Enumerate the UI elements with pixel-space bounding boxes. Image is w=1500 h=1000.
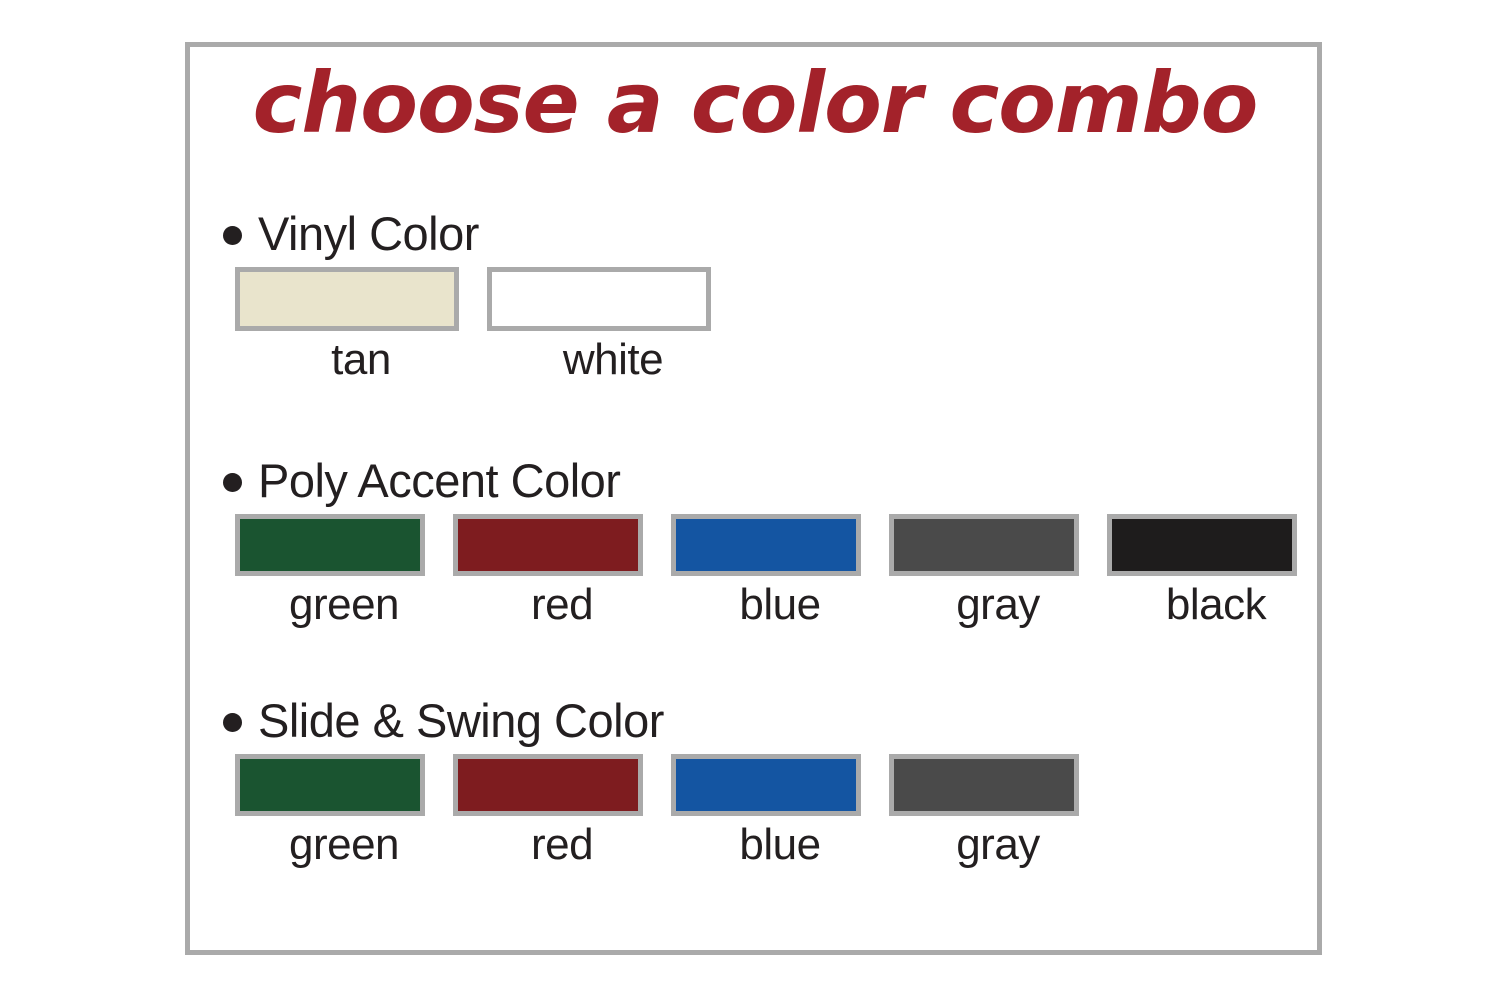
swatch-option-red[interactable]: red — [453, 514, 671, 628]
page-root: choose a color combo Vinyl Color tan whi… — [0, 0, 1500, 1000]
swatch-row-poly-accent: green red blue gray black — [235, 514, 1290, 628]
color-swatch-chip[interactable] — [671, 514, 861, 576]
page-title: choose a color combo — [240, 59, 1270, 147]
swatch-option-tan[interactable]: tan — [235, 267, 487, 383]
swatch-option-black[interactable]: black — [1107, 514, 1325, 628]
bullet-dot-icon — [223, 473, 242, 492]
color-swatch-chip[interactable] — [671, 754, 861, 816]
section-title-label: Poly Accent Color — [258, 457, 620, 504]
swatch-label: blue — [671, 822, 889, 868]
section-poly-accent-color: Poly Accent Color green red blue gray — [220, 452, 1290, 628]
color-swatch-chip[interactable] — [1107, 514, 1297, 576]
bullet-dot-icon — [223, 713, 242, 732]
color-swatch-chip[interactable] — [453, 754, 643, 816]
swatch-row-vinyl: tan white — [235, 267, 1290, 383]
section-heading-slide-swing: Slide & Swing Color — [223, 692, 1290, 748]
section-slide-swing-color: Slide & Swing Color green red blue gray — [220, 692, 1290, 868]
swatch-label: green — [235, 582, 453, 628]
section-vinyl-color: Vinyl Color tan white — [220, 205, 1290, 383]
swatch-option-red[interactable]: red — [453, 754, 671, 868]
swatch-option-white[interactable]: white — [487, 267, 739, 383]
swatch-label: black — [1107, 582, 1325, 628]
color-swatch-chip[interactable] — [235, 754, 425, 816]
swatch-label: gray — [889, 822, 1107, 868]
bullet-dot-icon — [223, 226, 242, 245]
swatch-label: red — [453, 822, 671, 868]
section-heading-poly-accent: Poly Accent Color — [223, 452, 1290, 508]
swatch-label: red — [453, 582, 671, 628]
swatch-option-gray[interactable]: gray — [889, 754, 1107, 868]
swatch-row-slide-swing: green red blue gray — [235, 754, 1290, 868]
color-combo-card: choose a color combo Vinyl Color tan whi… — [185, 42, 1322, 955]
color-swatch-chip[interactable] — [889, 514, 1079, 576]
swatch-label: gray — [889, 582, 1107, 628]
color-swatch-chip[interactable] — [487, 267, 711, 331]
color-swatch-chip[interactable] — [235, 267, 459, 331]
swatch-option-blue[interactable]: blue — [671, 514, 889, 628]
color-swatch-chip[interactable] — [889, 754, 1079, 816]
section-heading-vinyl: Vinyl Color — [223, 205, 1290, 261]
swatch-option-gray[interactable]: gray — [889, 514, 1107, 628]
section-title-label: Vinyl Color — [258, 210, 479, 257]
swatch-label: tan — [235, 337, 487, 383]
swatch-option-green[interactable]: green — [235, 754, 453, 868]
swatch-label: blue — [671, 582, 889, 628]
swatch-option-blue[interactable]: blue — [671, 754, 889, 868]
color-swatch-chip[interactable] — [235, 514, 425, 576]
swatch-label: white — [487, 337, 739, 383]
swatch-label: green — [235, 822, 453, 868]
section-title-label: Slide & Swing Color — [258, 697, 664, 744]
color-swatch-chip[interactable] — [453, 514, 643, 576]
swatch-option-green[interactable]: green — [235, 514, 453, 628]
